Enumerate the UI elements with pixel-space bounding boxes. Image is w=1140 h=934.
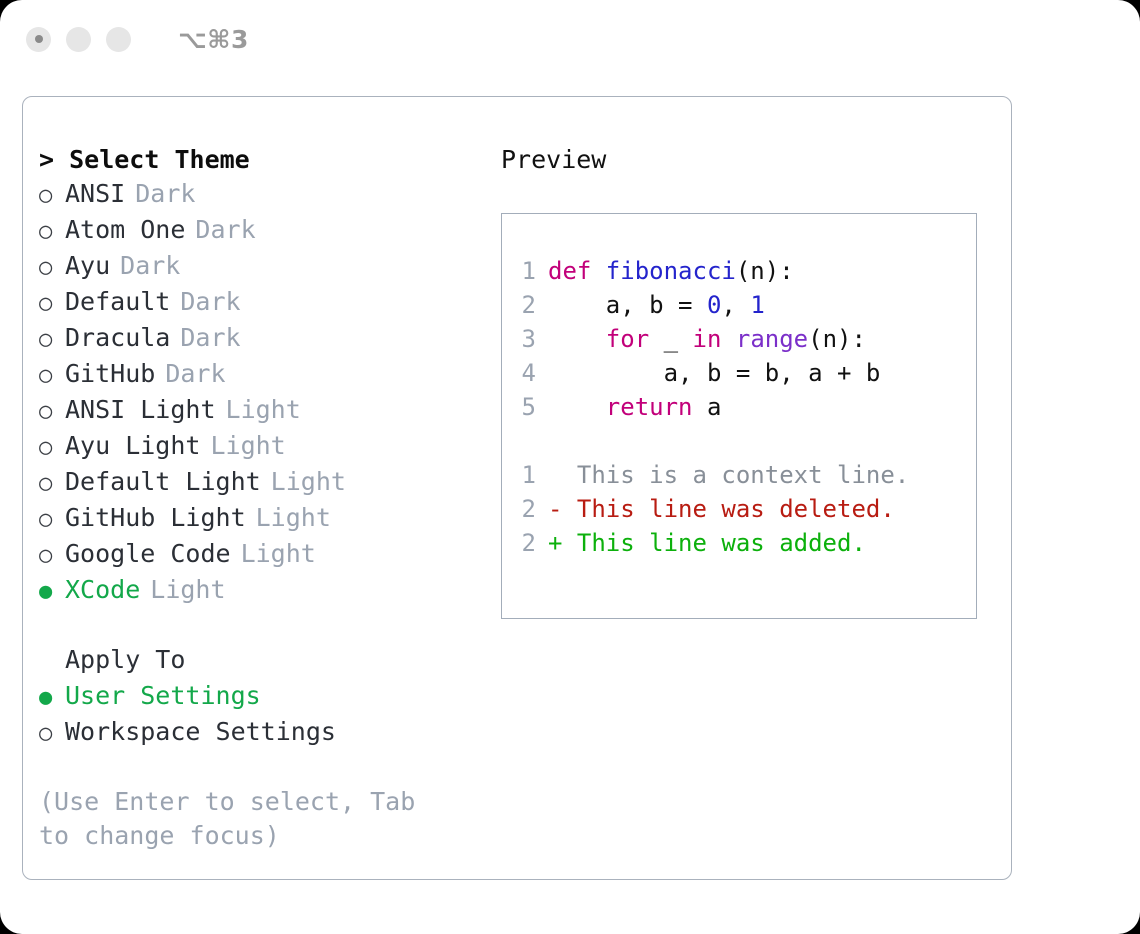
theme-name: ANSI — [65, 177, 125, 211]
diff-sample: 1 This is a context line.2- This line wa… — [502, 458, 976, 560]
traffic-light-minimize[interactable] — [66, 27, 91, 52]
code-token-plain — [721, 325, 735, 353]
theme-list-item[interactable]: ●XCodeLight — [39, 573, 489, 609]
diff-line: 2- This line was deleted. — [502, 492, 976, 526]
preview-column: Preview 1def fibonacci(n):2 a, b = 0, 13… — [501, 143, 1001, 619]
keyboard-shortcut-label: ⌥⌘3 — [178, 25, 249, 54]
line-number: 2 — [502, 288, 548, 322]
radio-unselected-icon[interactable]: ○ — [39, 431, 65, 465]
radio-unselected-icon[interactable]: ○ — [39, 323, 65, 357]
line-number: 5 — [502, 390, 548, 424]
apply-to-option[interactable]: ●User Settings — [39, 679, 489, 715]
code-diff-spacer — [502, 424, 976, 458]
theme-list-item[interactable]: ○ANSI LightLight — [39, 393, 489, 429]
theme-list-item[interactable]: ○Google CodeLight — [39, 537, 489, 573]
diff-line-content: This line was deleted. — [562, 492, 894, 526]
code-line: 1def fibonacci(n): — [502, 254, 976, 288]
code-token-keyword: return — [606, 393, 693, 421]
theme-kind-label: Dark — [195, 213, 255, 247]
diff-line: 1 This is a context line. — [502, 458, 976, 492]
theme-list-item[interactable]: ○AyuDark — [39, 249, 489, 285]
code-line-content: return a — [548, 390, 721, 424]
radio-unselected-icon[interactable]: ○ — [39, 395, 65, 429]
apply-to-option-label: Workspace Settings — [65, 715, 336, 749]
radio-unselected-icon[interactable]: ○ — [39, 179, 65, 213]
code-line: 5 return a — [502, 390, 976, 424]
theme-kind-label: Dark — [120, 249, 180, 283]
theme-selection-column: > Select Theme ○ANSIDark○Atom OneDark○Ay… — [39, 143, 489, 853]
radio-unselected-icon[interactable]: ○ — [39, 539, 65, 573]
code-line-content: for _ in range(n): — [548, 322, 866, 356]
radio-unselected-icon[interactable]: ○ — [39, 359, 65, 393]
radio-selected-icon[interactable]: ● — [39, 681, 65, 715]
select-theme-heading: > Select Theme — [39, 143, 489, 177]
code-line-content: a, b = b, a + b — [548, 356, 880, 390]
diff-line: 2+ This line was added. — [502, 526, 976, 560]
main-panel: > Select Theme ○ANSIDark○Atom OneDark○Ay… — [22, 96, 1012, 880]
code-token-plain: a, b = b, a + b — [548, 359, 880, 387]
preview-box: 1def fibonacci(n):2 a, b = 0, 13 for _ i… — [501, 213, 977, 619]
diff-line-number: 1 — [502, 458, 548, 492]
code-token-keyword: def — [548, 257, 606, 285]
radio-unselected-icon[interactable]: ○ — [39, 717, 65, 751]
traffic-light-close[interactable] — [26, 27, 51, 52]
theme-kind-label: Light — [150, 573, 225, 607]
title-bar: ⌥⌘3 — [0, 0, 1140, 78]
theme-name: GitHub — [65, 357, 155, 391]
diff-line-number: 2 — [502, 526, 548, 560]
theme-name: Dracula — [65, 321, 170, 355]
theme-name: XCode — [65, 573, 140, 607]
code-line-content: def fibonacci(n): — [548, 254, 794, 288]
theme-name: ANSI Light — [65, 393, 216, 427]
diff-line-content: This line was added. — [562, 526, 865, 560]
radio-selected-icon[interactable]: ● — [39, 575, 65, 609]
code-line: 3 for _ in range(n): — [502, 322, 976, 356]
theme-kind-label: Light — [241, 537, 316, 571]
line-number: 1 — [502, 254, 548, 288]
theme-kind-label: Light — [226, 393, 301, 427]
apply-to-option[interactable]: ○Workspace Settings — [39, 715, 489, 751]
code-token-number: 1 — [750, 291, 764, 319]
theme-list-item[interactable]: ○Default LightLight — [39, 465, 489, 501]
diff-line-number: 2 — [502, 492, 548, 526]
theme-kind-label: Dark — [165, 357, 225, 391]
theme-name: Google Code — [65, 537, 231, 571]
theme-list-item[interactable]: ○GitHub LightLight — [39, 501, 489, 537]
theme-list-item[interactable]: ○Ayu LightLight — [39, 429, 489, 465]
code-token-plain — [548, 325, 606, 353]
theme-name: Ayu — [65, 249, 110, 283]
theme-name: GitHub Light — [65, 501, 246, 535]
code-token-number: 0 — [707, 291, 721, 319]
radio-unselected-icon[interactable]: ○ — [39, 467, 65, 501]
code-token-plain: , — [721, 291, 750, 319]
code-token-plain: (n): — [808, 325, 866, 353]
line-number: 4 — [502, 356, 548, 390]
theme-name: Default — [65, 285, 170, 319]
theme-list-item[interactable]: ○ANSIDark — [39, 177, 489, 213]
theme-list-item[interactable]: ○DefaultDark — [39, 285, 489, 321]
code-token-keyword: in — [693, 325, 722, 353]
apply-to-options[interactable]: ●User Settings○Workspace Settings — [39, 679, 489, 751]
diff-line-content: This is a context line. — [562, 458, 909, 492]
theme-kind-label: Light — [271, 465, 346, 499]
diff-sign-deleted: - — [548, 492, 562, 526]
code-token-plain: a, b = — [548, 291, 707, 319]
theme-kind-label: Dark — [135, 177, 195, 211]
theme-kind-label: Light — [210, 429, 285, 463]
app-window: ⌥⌘3 > Select Theme ○ANSIDark○Atom OneDar… — [0, 0, 1140, 934]
code-token-function: fibonacci — [606, 257, 736, 285]
code-line-content: a, b = 0, 1 — [548, 288, 765, 322]
keyboard-hint: (Use Enter to select, Tab to change focu… — [39, 785, 459, 853]
apply-to-option-label: User Settings — [65, 679, 261, 713]
theme-name: Default Light — [65, 465, 261, 499]
code-token-keyword: for — [606, 325, 649, 353]
code-line: 4 a, b = b, a + b — [502, 356, 976, 390]
apply-to-heading: Apply To — [65, 643, 185, 677]
theme-list-item[interactable]: ○DraculaDark — [39, 321, 489, 357]
code-sample: 1def fibonacci(n):2 a, b = 0, 13 for _ i… — [502, 254, 976, 424]
theme-list-item[interactable]: ○GitHubDark — [39, 357, 489, 393]
diff-sign-added: + — [548, 526, 562, 560]
code-token-plain: _ — [649, 325, 692, 353]
theme-name: Atom One — [65, 213, 185, 247]
apply-to-heading-spacer: ○ — [39, 645, 65, 679]
traffic-light-maximize[interactable] — [106, 27, 131, 52]
code-token-call: range — [736, 325, 808, 353]
apply-to-heading-row: ○ Apply To — [39, 643, 489, 679]
theme-kind-label: Light — [256, 501, 331, 535]
window-controls[interactable] — [26, 27, 131, 52]
diff-sign-context — [548, 458, 562, 492]
radio-unselected-icon[interactable]: ○ — [39, 215, 65, 249]
traffic-light-dot-icon — [35, 35, 43, 43]
theme-list[interactable]: ○ANSIDark○Atom OneDark○AyuDark○DefaultDa… — [39, 177, 489, 609]
theme-kind-label: Dark — [180, 321, 240, 355]
code-token-plain: a — [693, 393, 722, 421]
section-spacer — [39, 609, 489, 643]
theme-kind-label: Dark — [180, 285, 240, 319]
theme-name: Ayu Light — [65, 429, 200, 463]
code-token-plain — [548, 393, 606, 421]
code-token-plain: (n): — [736, 257, 794, 285]
radio-unselected-icon[interactable]: ○ — [39, 287, 65, 321]
line-number: 3 — [502, 322, 548, 356]
radio-unselected-icon[interactable]: ○ — [39, 251, 65, 285]
panel-columns: > Select Theme ○ANSIDark○Atom OneDark○Ay… — [23, 97, 1011, 879]
code-line: 2 a, b = 0, 1 — [502, 288, 976, 322]
radio-unselected-icon[interactable]: ○ — [39, 503, 65, 537]
theme-list-item[interactable]: ○Atom OneDark — [39, 213, 489, 249]
preview-heading: Preview — [501, 143, 1001, 177]
